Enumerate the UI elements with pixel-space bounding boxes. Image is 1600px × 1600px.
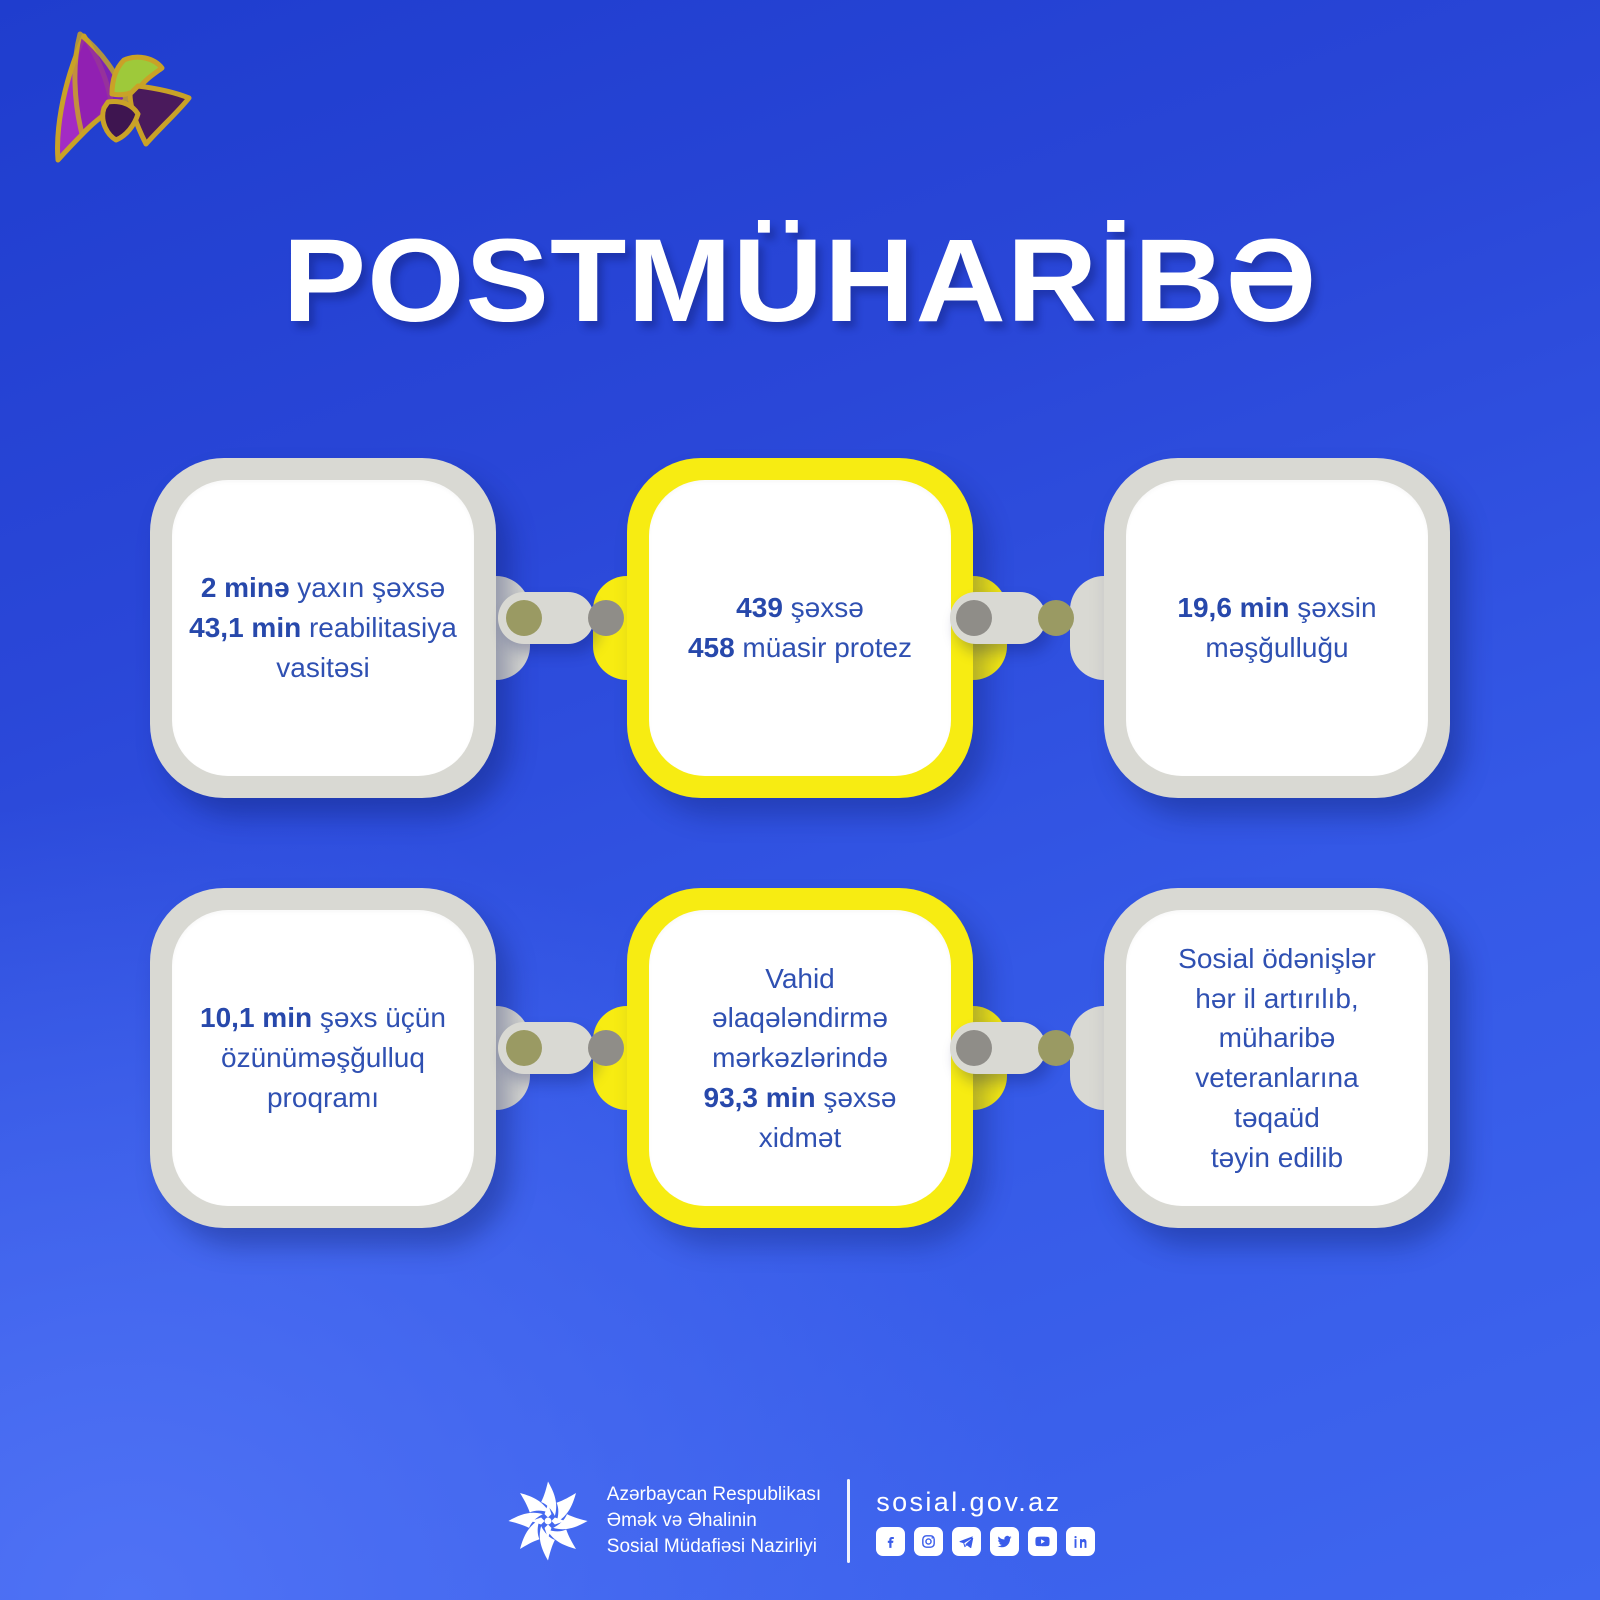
ministry-branding: Azərbaycan Respublikası Əmək və Əhalinin… xyxy=(505,1478,821,1564)
youtube-icon[interactable] xyxy=(1028,1527,1057,1556)
card-text: 2 minə yaxın şəxsə43,1 min reabilitasiya… xyxy=(189,568,457,687)
card-self-employment[interactable]: 10,1 min şəxs üçünözünüməşğulluqproqramı xyxy=(150,888,496,1228)
linkedin-icon[interactable] xyxy=(1066,1527,1095,1556)
card-social-payments[interactable]: Sosial ödənişlərhər il artırılıb,müharib… xyxy=(1104,888,1450,1228)
ministry-line-1: Azərbaycan Respublikası xyxy=(607,1482,821,1508)
card-rehabilitation[interactable]: 2 minə yaxın şəxsə43,1 min reabilitasiya… xyxy=(150,458,496,798)
card-panel: Vahidəlaqələndirməmərkəzlərində93,3 min … xyxy=(649,910,951,1206)
telegram-icon[interactable] xyxy=(952,1527,981,1556)
ministry-star-logo xyxy=(505,1478,591,1564)
social-links xyxy=(876,1527,1095,1556)
connector-dot-olive xyxy=(1038,1030,1074,1066)
page-title: POSTMÜHARİBƏ xyxy=(0,222,1600,340)
connector-dot-grey xyxy=(956,1030,992,1066)
connector-dot-grey xyxy=(588,600,624,636)
card-text: Vahidəlaqələndirməmərkəzlərində93,3 min … xyxy=(704,959,897,1158)
card-row-bottom: 10,1 min şəxs üçünözünüməşğulluqproqramı… xyxy=(150,878,1450,1238)
card-text: 19,6 min şəxsinməşğulluğu xyxy=(1177,588,1376,668)
card-panel: 439 şəxsə458 müasir protez xyxy=(649,480,951,776)
card-panel: 2 minə yaxın şəxsə43,1 min reabilitasiya… xyxy=(172,480,474,776)
infographic-poster: POSTMÜHARİBƏ 2 minə yaxın şəxsə43,1 min … xyxy=(0,0,1600,1600)
instagram-icon[interactable] xyxy=(914,1527,943,1556)
card-panel: 19,6 min şəxsinməşğulluğu xyxy=(1126,480,1428,776)
ministry-line-2: Əmək və Əhalinin xyxy=(607,1508,821,1534)
card-text: 439 şəxsə458 müasir protez xyxy=(688,588,912,668)
card-row-top: 2 minə yaxın şəxsə43,1 min reabilitasiya… xyxy=(150,448,1450,808)
connector-dot-olive xyxy=(506,1030,542,1066)
facebook-icon[interactable] xyxy=(876,1527,905,1556)
connector-dot-grey xyxy=(588,1030,624,1066)
card-panel: 10,1 min şəxs üçünözünüməşğulluqproqramı xyxy=(172,910,474,1206)
bird-flower-emblem xyxy=(34,24,204,184)
twitter-icon[interactable] xyxy=(990,1527,1019,1556)
footer-divider xyxy=(847,1479,850,1563)
ministry-line-3: Sosial Müdafiəsi Nazirliyi xyxy=(607,1534,821,1560)
connector-dot-grey xyxy=(956,600,992,636)
card-panel: Sosial ödənişlərhər il artırılıb,müharib… xyxy=(1126,910,1428,1206)
website-url[interactable]: sosial.gov.az xyxy=(876,1487,1095,1518)
connector-dot-olive xyxy=(506,600,542,636)
card-text: 10,1 min şəxs üçünözünüməşğulluqproqramı xyxy=(200,998,446,1117)
connector-dot-olive xyxy=(1038,600,1074,636)
card-prosthetics[interactable]: 439 şəxsə458 müasir protez xyxy=(627,458,973,798)
card-text: Sosial ödənişlərhər il artırılıb,müharib… xyxy=(1178,939,1376,1178)
footer: Azərbaycan Respublikası Əmək və Əhalinin… xyxy=(0,1478,1600,1564)
card-employment[interactable]: 19,6 min şəxsinməşğulluğu xyxy=(1104,458,1450,798)
ministry-name: Azərbaycan Respublikası Əmək və Əhalinin… xyxy=(607,1482,821,1561)
card-contact-centers[interactable]: Vahidəlaqələndirməmərkəzlərində93,3 min … xyxy=(627,888,973,1228)
web-block: sosial.gov.az xyxy=(876,1487,1095,1556)
